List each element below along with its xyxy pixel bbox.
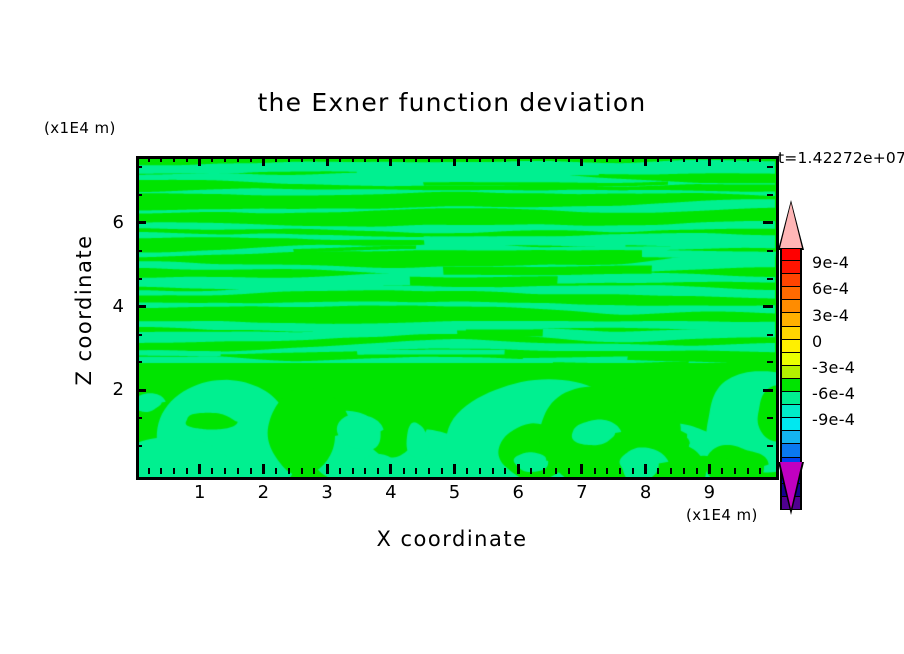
colorbar-label: 9e-4 bbox=[812, 253, 849, 272]
x-tick-minor bbox=[377, 156, 379, 162]
x-tick-minor bbox=[275, 468, 277, 474]
x-tick-minor bbox=[504, 468, 506, 474]
x-tick-minor bbox=[747, 468, 749, 474]
x-tick-label: 5 bbox=[435, 482, 475, 503]
x-tick-minor bbox=[275, 156, 277, 162]
x-tick-minor bbox=[683, 468, 685, 474]
x-tick-minor bbox=[237, 468, 239, 474]
x-tick-major bbox=[389, 464, 392, 474]
y-tick-major bbox=[136, 305, 146, 308]
colorbar-band bbox=[780, 366, 802, 379]
y-tick-minor bbox=[767, 250, 773, 252]
colorbar-band bbox=[780, 287, 802, 300]
x-tick-minor bbox=[313, 468, 315, 474]
x-tick-minor bbox=[339, 468, 341, 474]
x-tick-minor bbox=[211, 156, 213, 162]
x-tick-major bbox=[326, 464, 329, 474]
y-tick-major bbox=[136, 221, 146, 224]
x-tick-minor bbox=[747, 156, 749, 162]
x-tick-major bbox=[580, 464, 583, 474]
colorbar-label: -9e-4 bbox=[812, 410, 855, 429]
x-tick-minor bbox=[339, 156, 341, 162]
x-tick-minor bbox=[543, 468, 545, 474]
plot-area bbox=[136, 156, 779, 480]
x-tick-major bbox=[644, 464, 647, 474]
x-tick-minor bbox=[479, 468, 481, 474]
x-tick-minor bbox=[237, 156, 239, 162]
colorbar-label: 3e-4 bbox=[812, 306, 849, 325]
x-tick-minor bbox=[186, 468, 188, 474]
y-tick-minor bbox=[767, 445, 773, 447]
x-tick-minor bbox=[352, 468, 354, 474]
x-tick-minor bbox=[186, 156, 188, 162]
y-tick-minor bbox=[136, 278, 142, 280]
y-tick-minor bbox=[767, 194, 773, 196]
y-tick-minor bbox=[136, 250, 142, 252]
x-tick-minor bbox=[721, 156, 723, 162]
x-tick-minor bbox=[632, 468, 634, 474]
contour-plot-figure: the Exner function deviation (x1E4 m) (x… bbox=[0, 0, 904, 654]
x-tick-minor bbox=[555, 156, 557, 162]
x-tick-minor bbox=[415, 156, 417, 162]
x-tick-label: 1 bbox=[180, 482, 220, 503]
x-tick-minor bbox=[670, 156, 672, 162]
y-tick-major bbox=[763, 305, 773, 308]
x-tick-minor bbox=[696, 156, 698, 162]
x-tick-minor bbox=[568, 156, 570, 162]
x-tick-minor bbox=[301, 156, 303, 162]
x-tick-minor bbox=[173, 468, 175, 474]
x-tick-minor bbox=[696, 468, 698, 474]
x-tick-minor bbox=[173, 156, 175, 162]
colorbar-band bbox=[780, 353, 802, 366]
y-tick-major bbox=[136, 389, 146, 392]
x-tick-minor bbox=[250, 156, 252, 162]
x-tick-minor bbox=[301, 468, 303, 474]
x-tick-label: 4 bbox=[371, 482, 411, 503]
x-tick-minor bbox=[657, 468, 659, 474]
x-tick-major bbox=[453, 464, 456, 474]
y-tick-minor bbox=[767, 278, 773, 280]
y-axis-unit-label: (x1E4 m) bbox=[44, 119, 116, 137]
y-tick-minor bbox=[136, 445, 142, 447]
x-tick-minor bbox=[683, 156, 685, 162]
colorbar-label: -3e-4 bbox=[812, 358, 855, 377]
x-tick-minor bbox=[594, 156, 596, 162]
colorbar-band bbox=[780, 405, 802, 418]
y-tick-minor bbox=[136, 194, 142, 196]
x-tick-minor bbox=[479, 156, 481, 162]
x-tick-label: 7 bbox=[562, 482, 602, 503]
x-tick-major bbox=[517, 464, 520, 474]
x-tick-minor bbox=[734, 468, 736, 474]
y-tick-label: 2 bbox=[84, 379, 124, 400]
x-tick-minor bbox=[224, 468, 226, 474]
x-tick-minor bbox=[492, 156, 494, 162]
y-tick-label: 4 bbox=[84, 296, 124, 317]
x-tick-minor bbox=[441, 156, 443, 162]
x-tick-minor bbox=[619, 156, 621, 162]
y-tick-major bbox=[763, 221, 773, 224]
x-tick-minor bbox=[721, 468, 723, 474]
colorbar-label: 6e-4 bbox=[812, 279, 849, 298]
colorbar-band bbox=[780, 327, 802, 340]
x-tick-major bbox=[262, 464, 265, 474]
colorbar-band bbox=[780, 248, 802, 261]
x-tick-minor bbox=[594, 468, 596, 474]
page-title: the Exner function deviation bbox=[0, 88, 904, 117]
y-tick-minor bbox=[136, 166, 142, 168]
y-tick-minor bbox=[767, 334, 773, 336]
time-stamp-label: t=1.42272e+07 bbox=[778, 149, 904, 167]
x-tick-minor bbox=[428, 156, 430, 162]
x-tick-major bbox=[389, 156, 392, 166]
x-tick-minor bbox=[530, 468, 532, 474]
x-tick-minor bbox=[657, 156, 659, 162]
x-tick-major bbox=[580, 156, 583, 166]
contour-field bbox=[139, 159, 776, 477]
colorbar-band bbox=[780, 431, 802, 444]
x-tick-label: 6 bbox=[498, 482, 538, 503]
x-tick-major bbox=[517, 156, 520, 166]
x-tick-minor bbox=[415, 468, 417, 474]
y-tick-label: 6 bbox=[84, 212, 124, 233]
x-tick-label: 8 bbox=[626, 482, 666, 503]
x-tick-minor bbox=[148, 156, 150, 162]
x-tick-minor bbox=[288, 468, 290, 474]
x-tick-minor bbox=[224, 156, 226, 162]
x-tick-minor bbox=[606, 156, 608, 162]
x-tick-minor bbox=[352, 156, 354, 162]
colorbar-band bbox=[780, 340, 802, 353]
x-tick-minor bbox=[759, 468, 761, 474]
x-tick-minor bbox=[403, 156, 405, 162]
x-tick-minor bbox=[403, 468, 405, 474]
x-tick-minor bbox=[632, 156, 634, 162]
y-tick-minor bbox=[767, 166, 773, 168]
colorbar-band bbox=[780, 300, 802, 313]
x-tick-minor bbox=[734, 156, 736, 162]
x-tick-major bbox=[453, 156, 456, 166]
x-tick-minor bbox=[160, 468, 162, 474]
x-tick-minor bbox=[428, 468, 430, 474]
colorbar-band bbox=[780, 261, 802, 274]
y-tick-minor bbox=[136, 334, 142, 336]
y-tick-minor bbox=[136, 361, 142, 363]
x-tick-minor bbox=[148, 468, 150, 474]
colorbar-band bbox=[780, 392, 802, 405]
x-tick-minor bbox=[466, 156, 468, 162]
y-tick-minor bbox=[767, 361, 773, 363]
x-tick-minor bbox=[288, 156, 290, 162]
y-tick-minor bbox=[136, 417, 142, 419]
x-tick-label: 9 bbox=[689, 482, 729, 503]
x-tick-minor bbox=[313, 156, 315, 162]
x-tick-minor bbox=[441, 468, 443, 474]
x-tick-major bbox=[708, 156, 711, 166]
colorbar-band bbox=[780, 313, 802, 326]
x-tick-minor bbox=[364, 468, 366, 474]
x-tick-label: 3 bbox=[307, 482, 347, 503]
x-tick-major bbox=[262, 156, 265, 166]
x-tick-minor bbox=[670, 468, 672, 474]
colorbar-band bbox=[780, 379, 802, 392]
x-tick-minor bbox=[530, 156, 532, 162]
colorbar-band bbox=[780, 274, 802, 287]
x-tick-minor bbox=[759, 156, 761, 162]
colorbar-band bbox=[780, 444, 802, 457]
x-tick-minor bbox=[211, 468, 213, 474]
y-tick-minor bbox=[767, 417, 773, 419]
colorbar-band bbox=[780, 418, 802, 431]
x-axis-title: X coordinate bbox=[0, 527, 904, 551]
x-axis-unit-label: (x1E4 m) bbox=[686, 506, 758, 524]
x-tick-minor bbox=[466, 468, 468, 474]
colorbar-label: -6e-4 bbox=[812, 384, 855, 403]
x-tick-major bbox=[198, 464, 201, 474]
x-tick-minor bbox=[377, 468, 379, 474]
x-tick-minor bbox=[555, 468, 557, 474]
x-tick-minor bbox=[568, 468, 570, 474]
x-tick-major bbox=[708, 464, 711, 474]
x-tick-minor bbox=[160, 156, 162, 162]
x-tick-minor bbox=[504, 156, 506, 162]
x-tick-minor bbox=[619, 468, 621, 474]
x-tick-minor bbox=[250, 468, 252, 474]
x-tick-minor bbox=[492, 468, 494, 474]
x-tick-major bbox=[198, 156, 201, 166]
colorbar-over-arrow bbox=[780, 203, 802, 248]
x-tick-label: 2 bbox=[243, 482, 283, 503]
colorbar-label: 0 bbox=[812, 332, 822, 351]
x-tick-minor bbox=[606, 468, 608, 474]
x-tick-major bbox=[644, 156, 647, 166]
colorbar-under-arrow bbox=[780, 462, 802, 509]
x-tick-minor bbox=[364, 156, 366, 162]
x-tick-minor bbox=[543, 156, 545, 162]
x-tick-major bbox=[326, 156, 329, 166]
y-tick-major bbox=[763, 389, 773, 392]
